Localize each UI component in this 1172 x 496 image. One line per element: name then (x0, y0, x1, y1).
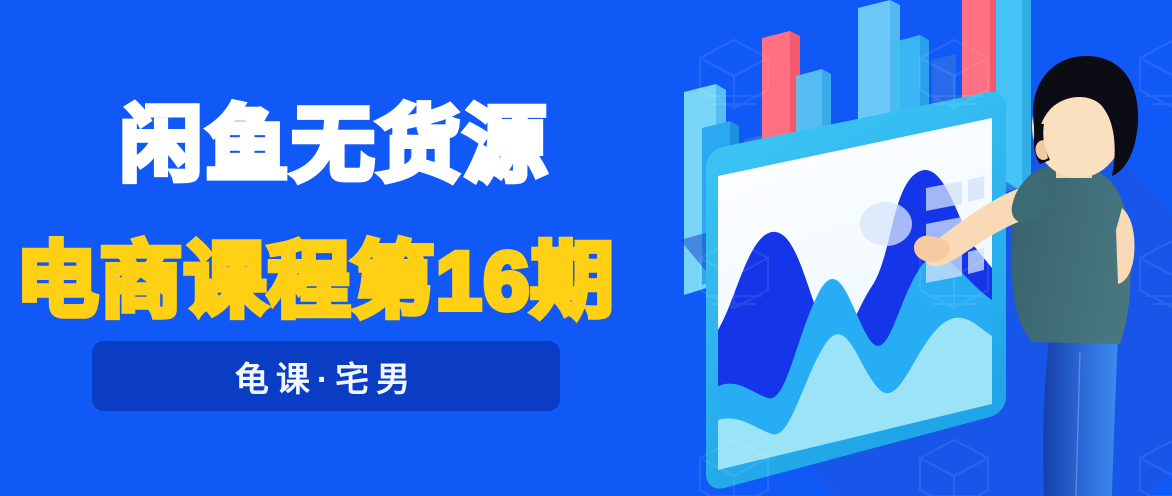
card-blob (860, 202, 912, 246)
author-badge-label: 龟课·宅男 (235, 352, 417, 401)
card-row-1b (968, 176, 984, 202)
headline-line-1: 闲鱼无货源 (120, 96, 550, 196)
analytics-screen (706, 92, 1006, 489)
course-promo-banner: 闲鱼无货源 电商课程第16期 龟课·宅男 (0, 0, 1172, 496)
headline-line-2: 电商课程第16期 (16, 232, 615, 332)
jeans (1043, 330, 1118, 496)
isometric-dashboard-illustration (640, 0, 1172, 496)
card-row-3b (968, 248, 984, 274)
author-badge: 龟课·宅男 (92, 341, 560, 411)
